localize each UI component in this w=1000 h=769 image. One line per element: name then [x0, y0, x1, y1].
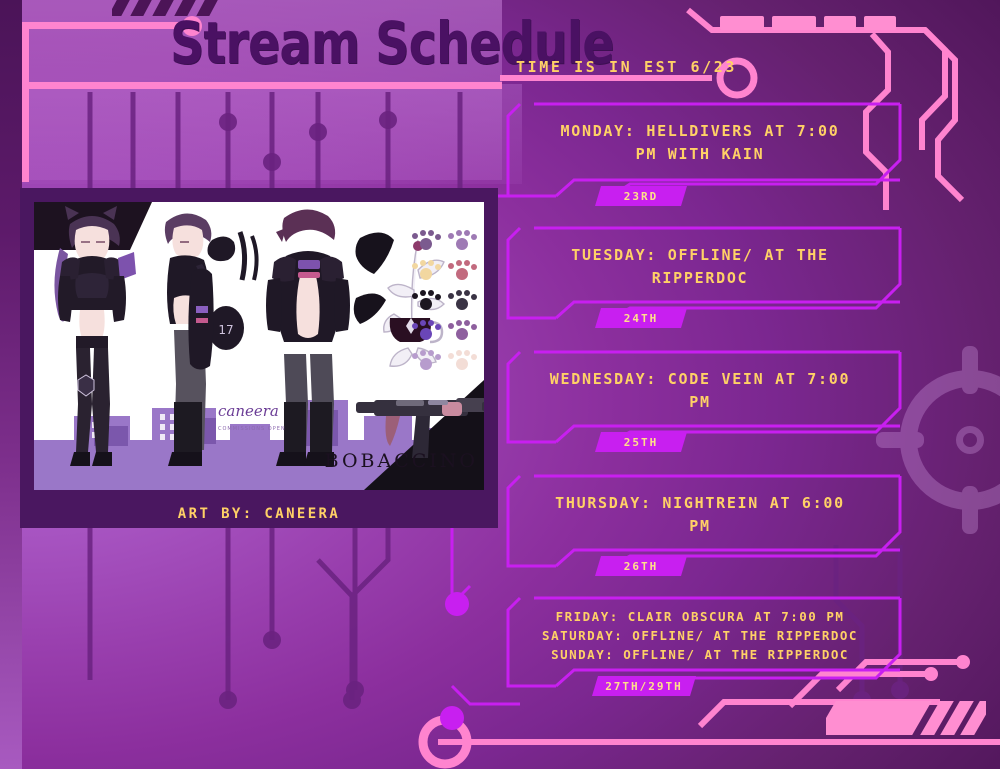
top-left-panel-secondary: [22, 84, 522, 184]
crosshair-tick-bottom: [962, 486, 978, 534]
schedule-text-thursday-line2: PM: [518, 515, 882, 538]
date-badge-monday: 23RD: [595, 186, 687, 206]
date-badge-weekend: 27TH/29TH: [592, 676, 696, 696]
schedule-text-friday: FRIDAY: CLAIR OBSCURA AT 7:00 PM: [518, 607, 882, 626]
schedule-text-wednesday-line1: WEDNESDAY: CODE VEIN AT 7:00: [518, 368, 882, 391]
frame-line-top: [22, 22, 192, 29]
schedule-text-tuesday-line2: RIPPERDOC: [518, 267, 882, 290]
reference-sheet-illustration: 17: [34, 202, 484, 490]
schedule-text-wednesday-line2: PM: [518, 391, 882, 414]
schedule-text-monday-line2: PM WITH KAIN: [518, 143, 882, 166]
schedule-text-thursday-line1: THURSDAY: NIGHTREIN AT 6:00: [518, 492, 882, 515]
schedule-text-monday-line1: MONDAY: HELLDIVERS AT 7:00: [518, 120, 882, 143]
artist-watermark-sub: COMMISSIONS OPEN: [218, 426, 286, 432]
artist-watermark: caneera: [218, 402, 279, 420]
schedule-text-tuesday-line1: TUESDAY: OFFLINE/ AT THE: [518, 244, 882, 267]
date-badge-wednesday: 25TH: [595, 432, 687, 452]
schedule-text-saturday: SATURDAY: OFFLINE/ AT THE RIPPERDOC: [518, 626, 882, 645]
character-art-card: 17: [20, 188, 498, 528]
date-badge-tuesday: 24TH: [595, 308, 687, 328]
svg-text:17: 17: [218, 323, 233, 337]
bottom-right-stripes: [826, 701, 986, 735]
left-edge-band: [0, 0, 22, 769]
crosshair-center-dot: [956, 426, 984, 454]
stream-schedule-graphic: Stream Schedule TIME IS IN EST 6/23: [0, 0, 1000, 769]
crosshair-tick-top: [962, 346, 978, 394]
crosshair-tick-left: [876, 432, 924, 448]
frame-line-mid: [22, 82, 502, 89]
date-badge-thursday: 26TH: [595, 556, 687, 576]
character-name-label: BOBACCINO: [325, 450, 478, 472]
crosshair-icon: [882, 352, 1000, 528]
schedule-text-sunday: SUNDAY: OFFLINE/ AT THE RIPPERDOC: [518, 645, 882, 664]
frame-line-left: [22, 22, 29, 182]
ring-node-bottom: [423, 720, 467, 764]
art-credit-label: ART BY: CANEERA: [20, 506, 498, 522]
timezone-note: TIME IS IN EST 6/23: [516, 58, 737, 76]
character-reference-sheet: 17: [34, 202, 484, 490]
